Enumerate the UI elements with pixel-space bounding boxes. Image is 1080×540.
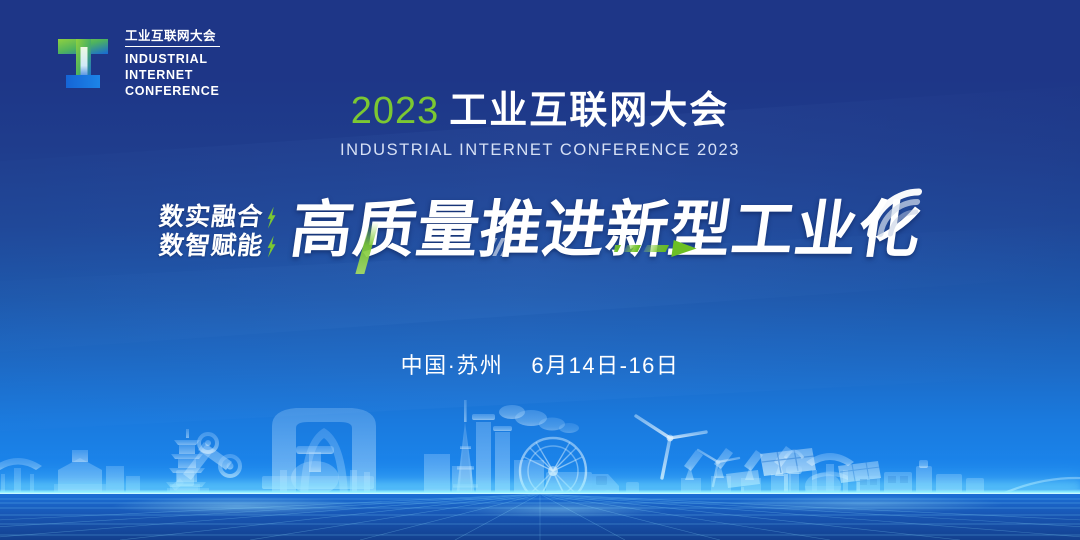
event-dates: 6月14日-16日: [531, 353, 679, 378]
slogan-left-line-2: 数智赋能: [157, 234, 278, 259]
headline-year: 2023: [351, 90, 440, 132]
lightning-bolt-icon-2: [265, 236, 279, 258]
slogan-left-line-1-text: 数实融合: [157, 205, 264, 230]
slogan-left-phrases: 数实融合 数智赋能: [159, 205, 277, 259]
lightning-bolt-icon: [265, 207, 279, 229]
slogan-main: 高质量推进新型工业化: [287, 200, 926, 262]
slogan-left-line-1: 数实融合: [157, 205, 278, 230]
slogan-left-line-2-text: 数智赋能: [157, 234, 264, 259]
logo-en-line-1: INDUSTRIAL: [125, 51, 220, 67]
headline-main-line: 2023工业互联网大会: [0, 92, 1080, 130]
logo-lockup: 工业互联网大会 INDUSTRIAL INTERNET CONFERENCE: [52, 30, 220, 99]
perspective-grid-floor: [0, 494, 1080, 540]
event-meta-line: 中国·苏州6月14日-16日: [0, 348, 1080, 380]
headline-block: 2023工业互联网大会 INDUSTRIAL INTERNET CONFEREN…: [0, 92, 1080, 160]
slogan-main-text: 高质量推进新型工业化: [286, 196, 926, 265]
slogan-block: 数实融合 数智赋能 高质量推进新型工业化: [0, 186, 1080, 276]
conference-poster: 工业互联网大会 INDUSTRIAL INTERNET CONFERENCE 2…: [0, 0, 1080, 540]
logo-text-block: 工业互联网大会 INDUSTRIAL INTERNET CONFERENCE: [125, 30, 220, 99]
water-shimmer: [0, 494, 1080, 540]
headline-en-subtitle: INDUSTRIAL INTERNET CONFERENCE 2023: [0, 141, 1080, 160]
industrial-internet-conference-logo-icon: [52, 33, 114, 95]
logo-en-line-2: INTERNET: [125, 67, 220, 83]
slogan-inner: 数实融合 数智赋能 高质量推进新型工业化: [159, 200, 921, 262]
logo-cn-name: 工业互联网大会: [125, 30, 220, 47]
event-location: 中国·苏州: [401, 353, 504, 378]
industrial-city-skyline: [0, 366, 1080, 496]
headline-cn-title: 工业互联网大会: [449, 90, 729, 132]
